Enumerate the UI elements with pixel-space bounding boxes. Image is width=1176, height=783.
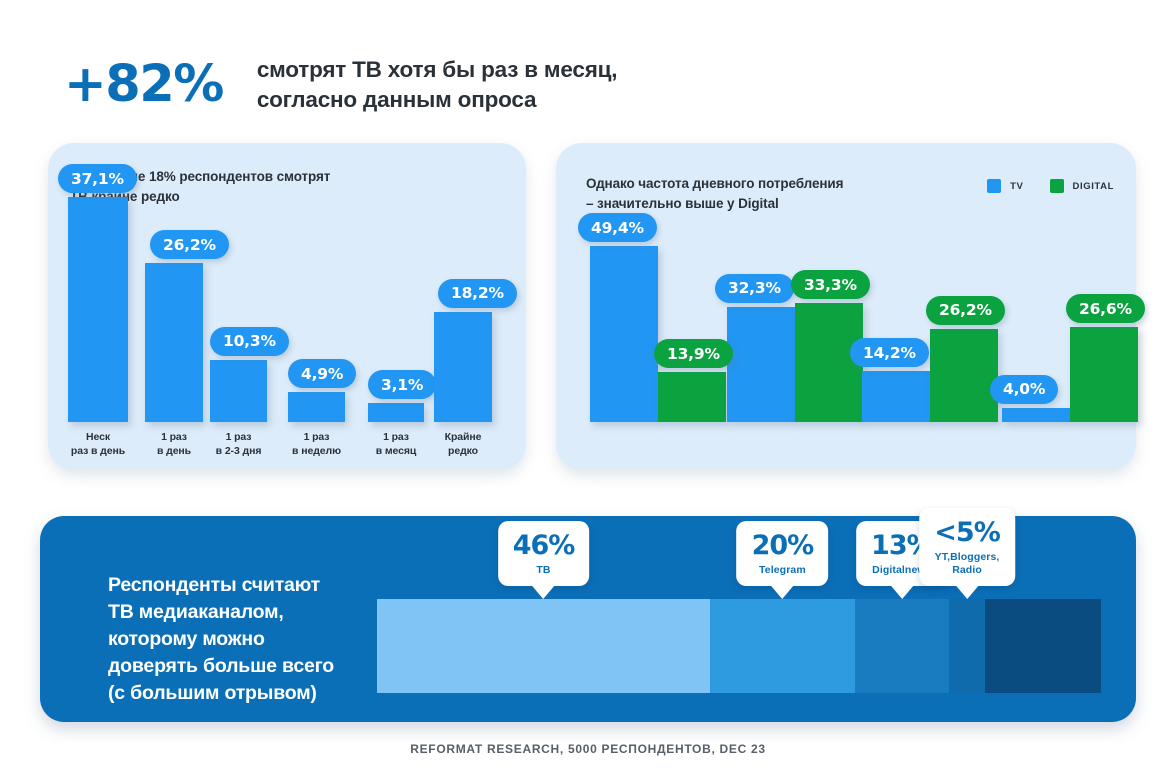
headline-text: смотрят ТВ хотя бы раз в месяц, согласно… [257,55,618,115]
bar-tv [368,403,424,422]
bar-value-pill: 26,2% [926,296,1005,325]
segment-callout-value: <5% [934,519,999,546]
stacked-segment: 20%Telegram [710,599,855,693]
x-axis-label: 1 разв неделю [277,431,356,459]
trusted-media-text: Респонденты считают ТВ медиаканалом, кот… [108,572,334,707]
stacked-segment: 13%Digitalnews [855,599,949,693]
bar-value-pill: 26,2% [150,230,229,259]
bar-value-pill: 37,1% [58,164,137,193]
left-bar-chart: 37,1%Нескраз в день26,2%1 разв день10,3%… [48,143,526,470]
headline-text-line1: смотрят ТВ хотя бы раз в месяц, [257,55,618,85]
headline-text-line2: согласно данным опроса [257,85,618,115]
x-axis-label: Крайнередко [423,431,503,459]
bar-value-pill: 10,3% [210,327,289,356]
bar-value-pill: 4,9% [288,359,356,388]
stacked-segment: <5%YT,Bloggers,Radio [949,599,985,693]
bar-value-pill: 33,3% [791,270,870,299]
bar-tv [590,246,658,422]
page-header: +82% смотрят ТВ хотя бы раз в месяц, сог… [64,55,617,115]
trusted-media-text-line4: доверять больше всего [108,653,334,680]
bar-tv [862,371,930,422]
bar-value-pill: 4,0% [990,375,1058,404]
bar-digital [658,372,726,422]
chart-panel-daily-consumption: Однако частота дневного потребления – зн… [556,143,1136,470]
bar-tv [434,312,492,422]
trusted-media-text-line5: (с большим отрывом) [108,680,334,707]
trusted-media-panel: Респонденты считают ТВ медиаканалом, кот… [40,516,1136,722]
bar-digital [930,329,998,422]
segment-callout[interactable]: <5%YT,Bloggers,Radio [919,508,1014,586]
segment-callout-value: 46% [513,532,575,559]
bar-digital [1070,327,1138,422]
x-axis-label: Нескраз в день [57,431,139,459]
bar-value-pill: 14,2% [850,338,929,367]
bar-value-pill: 18,2% [438,279,517,308]
bar-tv [68,197,128,422]
source-footnote: REFORMAT RESEARCH, 5000 РЕСПОНДЕНТОВ, DE… [0,742,1176,756]
segment-callout[interactable]: 20%Telegram [737,521,829,586]
x-axis-label: 1 разв 2-3 дня [199,431,278,459]
bar-value-pill: 13,9% [654,339,733,368]
segment-callout-label: ТВ [536,564,550,577]
bar-tv [288,392,345,422]
segment-callout-value: 20% [752,532,814,559]
trusted-media-text-line2: ТВ медиаканалом, [108,599,334,626]
bar-tv [145,263,203,422]
bar-value-pill: 49,4% [578,213,657,242]
trusted-media-text-line3: которому можно [108,626,334,653]
bar-tv [1002,408,1070,422]
infographic-root: +82% смотрят ТВ хотя бы раз в месяц, сог… [0,0,1176,783]
trusted-media-stacked-bar: 46%ТВ20%Telegram13%Digitalnews<5%YT,Blog… [377,599,1101,693]
right-bar-chart: 49,4%13,9%32,3%33,3%14,2%26,2%4,0%26,6% [556,143,1136,470]
trusted-media-text-line1: Респонденты считают [108,572,334,599]
segment-callout[interactable]: 46%ТВ [498,521,590,586]
bar-value-pill: 3,1% [368,370,436,399]
bar-tv [727,307,795,422]
bar-value-pill: 26,6% [1066,294,1145,323]
bar-tv [210,360,267,422]
stacked-segment [985,599,1101,693]
stacked-segment: 46%ТВ [377,599,710,693]
bar-digital [795,303,863,422]
headline-stat: +82% [64,59,223,110]
chart-panel-viewing-frequency: Остальные 18% респондентов смотрят ТВ кр… [48,143,526,470]
segment-callout-label: YT,Bloggers,Radio [935,551,1000,577]
bar-value-pill: 32,3% [715,274,794,303]
segment-callout-label: Telegram [759,564,806,577]
